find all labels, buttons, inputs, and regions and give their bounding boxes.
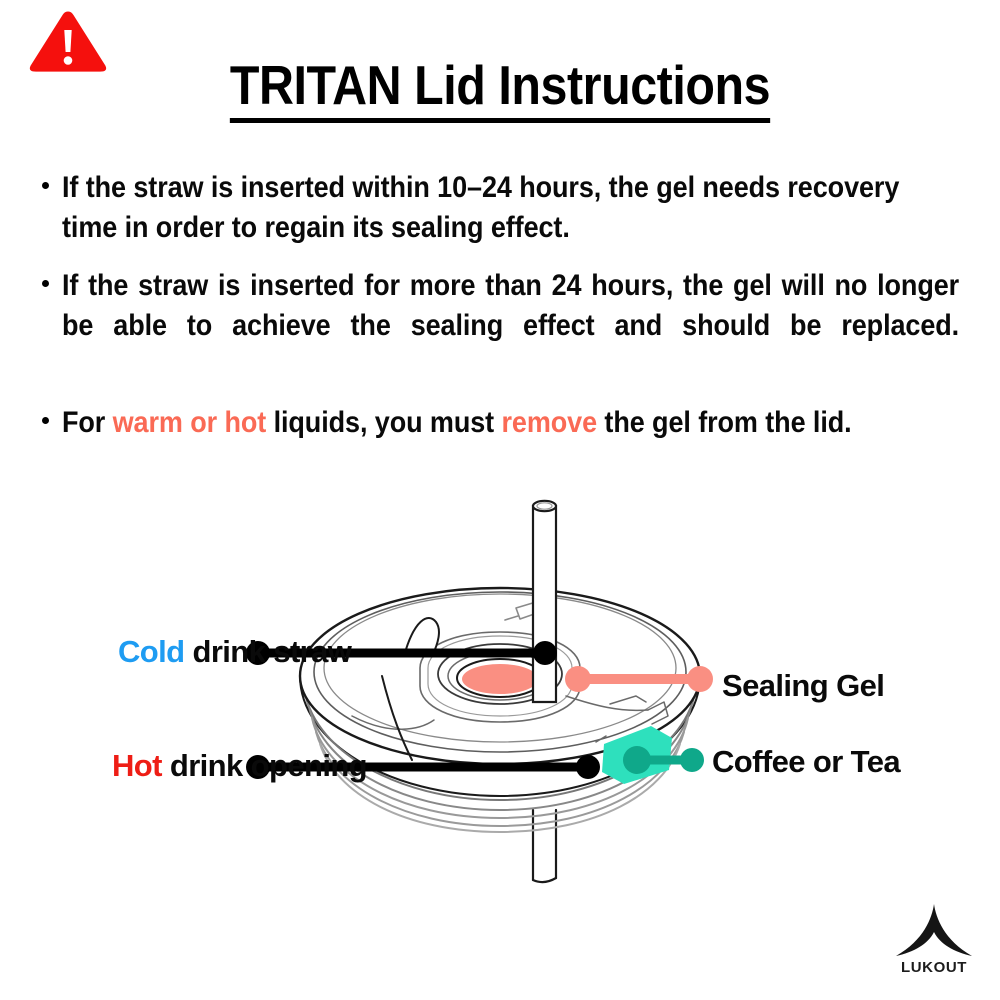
callout-accent-hot: Hot bbox=[112, 748, 162, 783]
callout-label-cold-drink-straw: Cold drink straw bbox=[118, 634, 351, 670]
bullet-dot-icon bbox=[42, 417, 49, 424]
callout-accent-cold: Cold bbox=[118, 634, 184, 669]
page-title-text: TRITAN Lid Instructions bbox=[230, 58, 770, 123]
callout-label-hot-drink-opening: Hot drink opening bbox=[112, 748, 367, 784]
bullet-3-seg-c: liquids, you must bbox=[266, 406, 501, 439]
list-item: If the straw is inserted for more than 2… bbox=[40, 266, 960, 386]
bullet-dot-icon bbox=[42, 182, 49, 189]
bullet-3-emphasis-remove: remove bbox=[501, 406, 597, 439]
callout-rest-hot: drink opening bbox=[162, 748, 367, 783]
callout-label-coffee-or-tea: Coffee or Tea bbox=[712, 744, 900, 780]
callout-rest-cold: drink straw bbox=[184, 634, 351, 669]
brand-logo: LUKOUT bbox=[892, 902, 976, 980]
bullet-3-emphasis-warm-or-hot: warm or hot bbox=[113, 406, 267, 439]
bullet-1-text: If the straw is inserted within 10–24 ho… bbox=[62, 168, 959, 248]
page-title: TRITAN Lid Instructions bbox=[60, 58, 940, 123]
callout-label-sealing-gel: Sealing Gel bbox=[722, 668, 884, 704]
bullet-2-text: If the straw is inserted for more than 2… bbox=[62, 266, 959, 386]
straw-upper bbox=[533, 501, 556, 702]
bullet-3-seg-e: the gel from the lid. bbox=[597, 406, 852, 439]
bullet-dot-icon bbox=[42, 280, 49, 287]
bullet-3-seg-a: For bbox=[62, 406, 113, 439]
arrow-spire-icon bbox=[892, 902, 976, 958]
logo-wordmark: LUKOUT bbox=[892, 959, 976, 976]
straw-lower bbox=[533, 810, 556, 882]
sealing-gel-ring bbox=[462, 664, 538, 694]
instructions-list: If the straw is inserted within 10–24 ho… bbox=[40, 168, 960, 461]
list-item: For warm or hot liquids, you must remove… bbox=[40, 403, 960, 443]
list-item: If the straw is inserted within 10–24 ho… bbox=[40, 168, 960, 248]
bullet-3-text: For warm or hot liquids, you must remove… bbox=[62, 403, 959, 443]
